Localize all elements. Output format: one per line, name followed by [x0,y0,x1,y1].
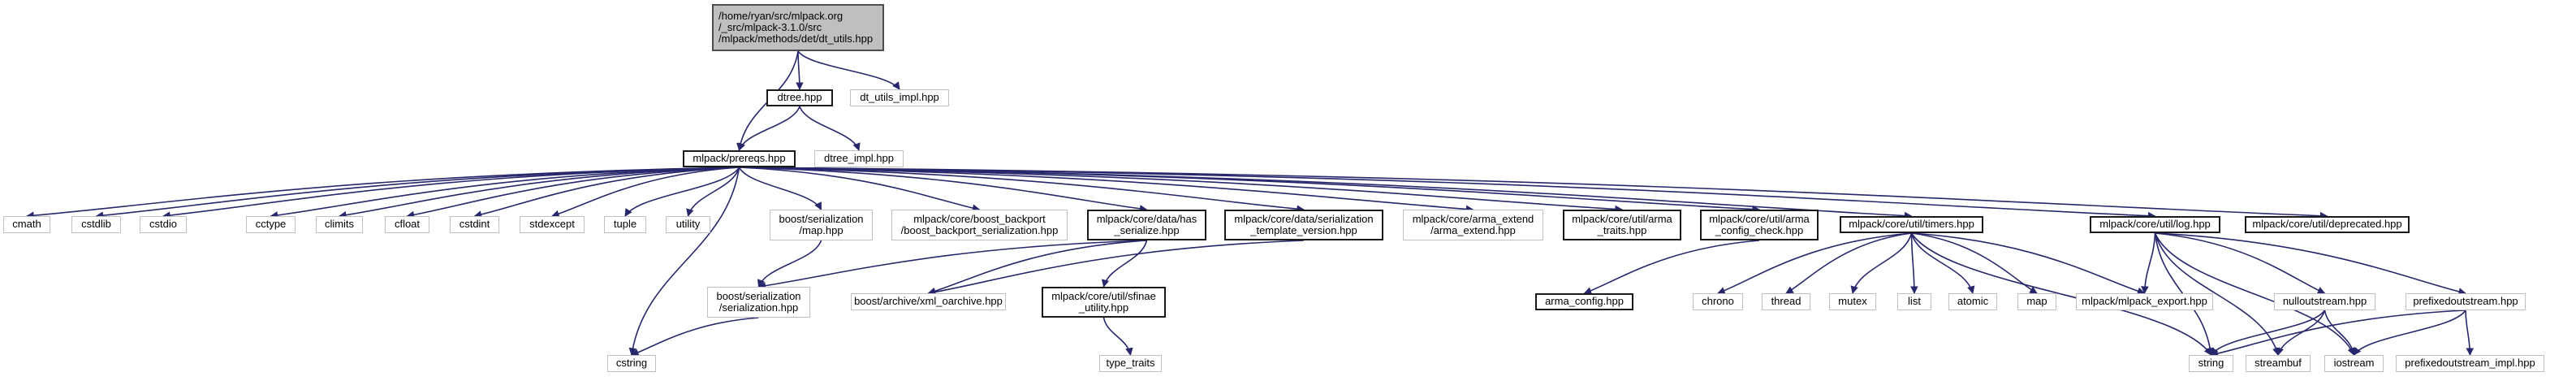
graph-edge [2145,233,2155,293]
graph-node-armatraits[interactable]: mlpack/core/util/arma _traits.hpp [1563,210,1681,240]
graph-node-label: chrono [1702,296,1734,307]
graph-node-cstdint[interactable]: cstdint [450,216,499,233]
graph-edge [740,167,2155,216]
graph-node-dtutilsimpl[interactable]: dt_utils_impl.hpp [850,89,949,106]
graph-node-label: mlpack/mlpack_export.hpp [2082,296,2207,307]
graph-node-stdexcept[interactable]: stdexcept [520,216,585,233]
graph-node-cmath[interactable]: cmath [3,216,50,233]
graph-edge [1912,233,2038,293]
graph-edge [2354,310,2466,355]
graph-node-sfinae[interactable]: mlpack/core/util/sfinae _utility.hpp [1042,287,1166,318]
include-dependency-graph: /home/ryan/src/mlpack.org /_src/mlpack-3… [0,0,2576,381]
graph-node-label: prefixedoutstream.hpp [2413,296,2518,307]
graph-edge [632,318,759,355]
graph-node-armaconfig[interactable]: mlpack/core/util/arma _config_check.hpp [1700,210,1819,240]
graph-edge [1912,233,1974,293]
graph-node-label: nulloutstream.hpp [2283,296,2367,307]
graph-node-label: mlpack/core/boost_backport /boost_backpo… [901,214,1059,236]
graph-node-tuple[interactable]: tuple [604,216,646,233]
graph-node-nullout[interactable]: nulloutstream.hpp [2274,293,2375,310]
graph-node-label: map [2026,296,2047,307]
graph-node-mutex[interactable]: mutex [1829,293,1876,310]
graph-node-dtreeimpl[interactable]: dtree_impl.hpp [814,150,904,167]
graph-node-hasserial[interactable]: mlpack/core/data/has _serialize.hpp [1087,210,1206,240]
graph-node-label: mlpack/core/data/has _serialize.hpp [1097,214,1197,236]
graph-node-label: climits [325,219,354,230]
graph-node-label: mlpack/core/util/arma _traits.hpp [1572,214,1672,236]
graph-node-cstring[interactable]: cstring [607,355,656,372]
graph-node-label: string [2198,357,2224,369]
graph-node-sertmplver[interactable]: mlpack/core/data/serialization _template… [1224,210,1383,240]
graph-node-armaconfhpp[interactable]: arma_config.hpp [1535,293,1633,310]
graph-node-label: cstdint [460,219,490,230]
graph-node-bserser[interactable]: boost/serialization /serialization.hpp [707,287,810,318]
graph-edge [929,240,1305,293]
graph-edge [1912,233,2145,293]
graph-edge [552,167,740,216]
graph-node-typetraits[interactable]: type_traits [1099,355,1162,372]
graph-node-timers[interactable]: mlpack/core/util/timers.hpp [1840,216,1983,233]
graph-edge [1104,318,1131,355]
graph-node-label: boost/archive/xml_oarchive.hpp [854,296,1003,307]
graph-edge [798,51,800,89]
graph-node-label: cstring [616,357,647,369]
graph-edge [1853,233,1912,293]
graph-node-label: prefixedoutstream_impl.hpp [2405,357,2535,369]
graph-node-label: atomic [1957,296,1988,307]
graph-node-label: cstdio [149,219,177,230]
graph-node-label: cctype [256,219,287,230]
graph-node-bsermap[interactable]: boost/serialization /map.hpp [770,210,873,240]
graph-node-label: boost/serialization /map.hpp [779,214,863,236]
graph-node-label: mlpack/prereqs.hpp [693,153,785,164]
graph-edge [632,167,740,355]
graph-node-cstdlib[interactable]: cstdlib [71,216,121,233]
graph-edge [740,106,800,150]
graph-node-label: list [1908,296,1921,307]
graph-node-label: mlpack/core/arma_extend /arma_extend.hpp [1413,214,1534,236]
graph-node-deprecated[interactable]: mlpack/core/util/deprecated.hpp [2245,216,2410,233]
graph-edge [740,167,822,210]
graph-edges [0,0,2576,381]
graph-node-map[interactable]: map [2017,293,2056,310]
graph-node-label: dtree.hpp [778,92,822,103]
graph-edge [759,240,822,287]
graph-node-cstdio[interactable]: cstdio [140,216,187,233]
graph-node-mlpackexp[interactable]: mlpack/mlpack_export.hpp [2076,293,2213,310]
graph-node-root[interactable]: /home/ryan/src/mlpack.org /_src/mlpack-3… [712,4,884,51]
graph-node-label: mutex [1838,296,1866,307]
graph-node-bbackport[interactable]: mlpack/core/boost_backport /boost_backpo… [891,210,1068,240]
graph-node-loghpp[interactable]: mlpack/core/util/log.hpp [2090,216,2220,233]
graph-edge [798,51,900,89]
graph-node-chrono[interactable]: chrono [1693,293,1743,310]
graph-edge [2211,310,2325,355]
graph-node-label: stdexcept [529,219,575,230]
graph-node-label: type_traits [1107,357,1155,369]
graph-node-cctype[interactable]: cctype [246,216,296,233]
graph-node-thread[interactable]: thread [1762,293,1810,310]
graph-node-label: mlpack/core/util/timers.hpp [1849,219,1974,230]
graph-node-prereqs[interactable]: mlpack/prereqs.hpp [683,150,796,167]
graph-node-utility[interactable]: utility [666,216,710,233]
graph-edge [1104,240,1147,287]
graph-node-label: utility [676,219,701,230]
graph-node-prefixout[interactable]: prefixedoutstream.hpp [2406,293,2526,310]
graph-node-prefiximpl[interactable]: prefixedoutstream_impl.hpp [2396,355,2544,372]
graph-node-climits[interactable]: climits [316,216,363,233]
graph-node-label: cmath [12,219,41,230]
graph-node-label: mlpack/core/util/deprecated.hpp [2252,219,2401,230]
graph-node-label: arma_config.hpp [1545,296,1624,307]
graph-edge [2155,233,2325,293]
graph-node-list[interactable]: list [1897,293,1931,310]
graph-node-armaextend[interactable]: mlpack/core/arma_extend /arma_extend.hpp [1403,210,1543,240]
graph-node-label: mlpack/core/util/sfinae _utility.hpp [1051,291,1156,314]
graph-edge [1912,233,1915,293]
graph-node-label: mlpack/core/util/log.hpp [2099,219,2211,230]
graph-node-label: dtree_impl.hpp [824,153,894,164]
graph-node-label: thread [1771,296,1801,307]
graph-node-label: cfloat [395,219,420,230]
graph-node-label: mlpack/core/util/arma _config_check.hpp [1709,214,1810,236]
graph-edge [2466,310,2470,355]
graph-node-xmloarchive[interactable]: boost/archive/xml_oarchive.hpp [851,293,1006,310]
graph-node-label: cstdlib [81,219,111,230]
graph-node-label: /home/ryan/src/mlpack.org /_src/mlpack-3… [718,11,873,45]
graph-node-string[interactable]: string [2189,355,2233,372]
graph-node-dtree[interactable]: dtree.hpp [766,89,833,106]
graph-node-label: boost/serialization /serialization.hpp [716,291,800,314]
graph-node-label: streambuf [2255,357,2302,369]
graph-node-atomic[interactable]: atomic [1948,293,1997,310]
graph-edge [929,240,1147,293]
graph-edge [1585,240,1760,293]
graph-node-cfloat[interactable]: cfloat [385,216,429,233]
graph-node-label: dt_utils_impl.hpp [860,92,939,103]
graph-node-label: mlpack/core/data/serialization _template… [1234,214,1373,236]
graph-node-label: tuple [614,219,636,230]
graph-node-streambuf[interactable]: streambuf [2246,355,2311,372]
graph-edge [97,167,740,216]
graph-node-label: iostream [2334,357,2375,369]
graph-node-iostream[interactable]: iostream [2324,355,2384,372]
graph-edge [800,106,859,150]
graph-edge [2211,310,2466,355]
